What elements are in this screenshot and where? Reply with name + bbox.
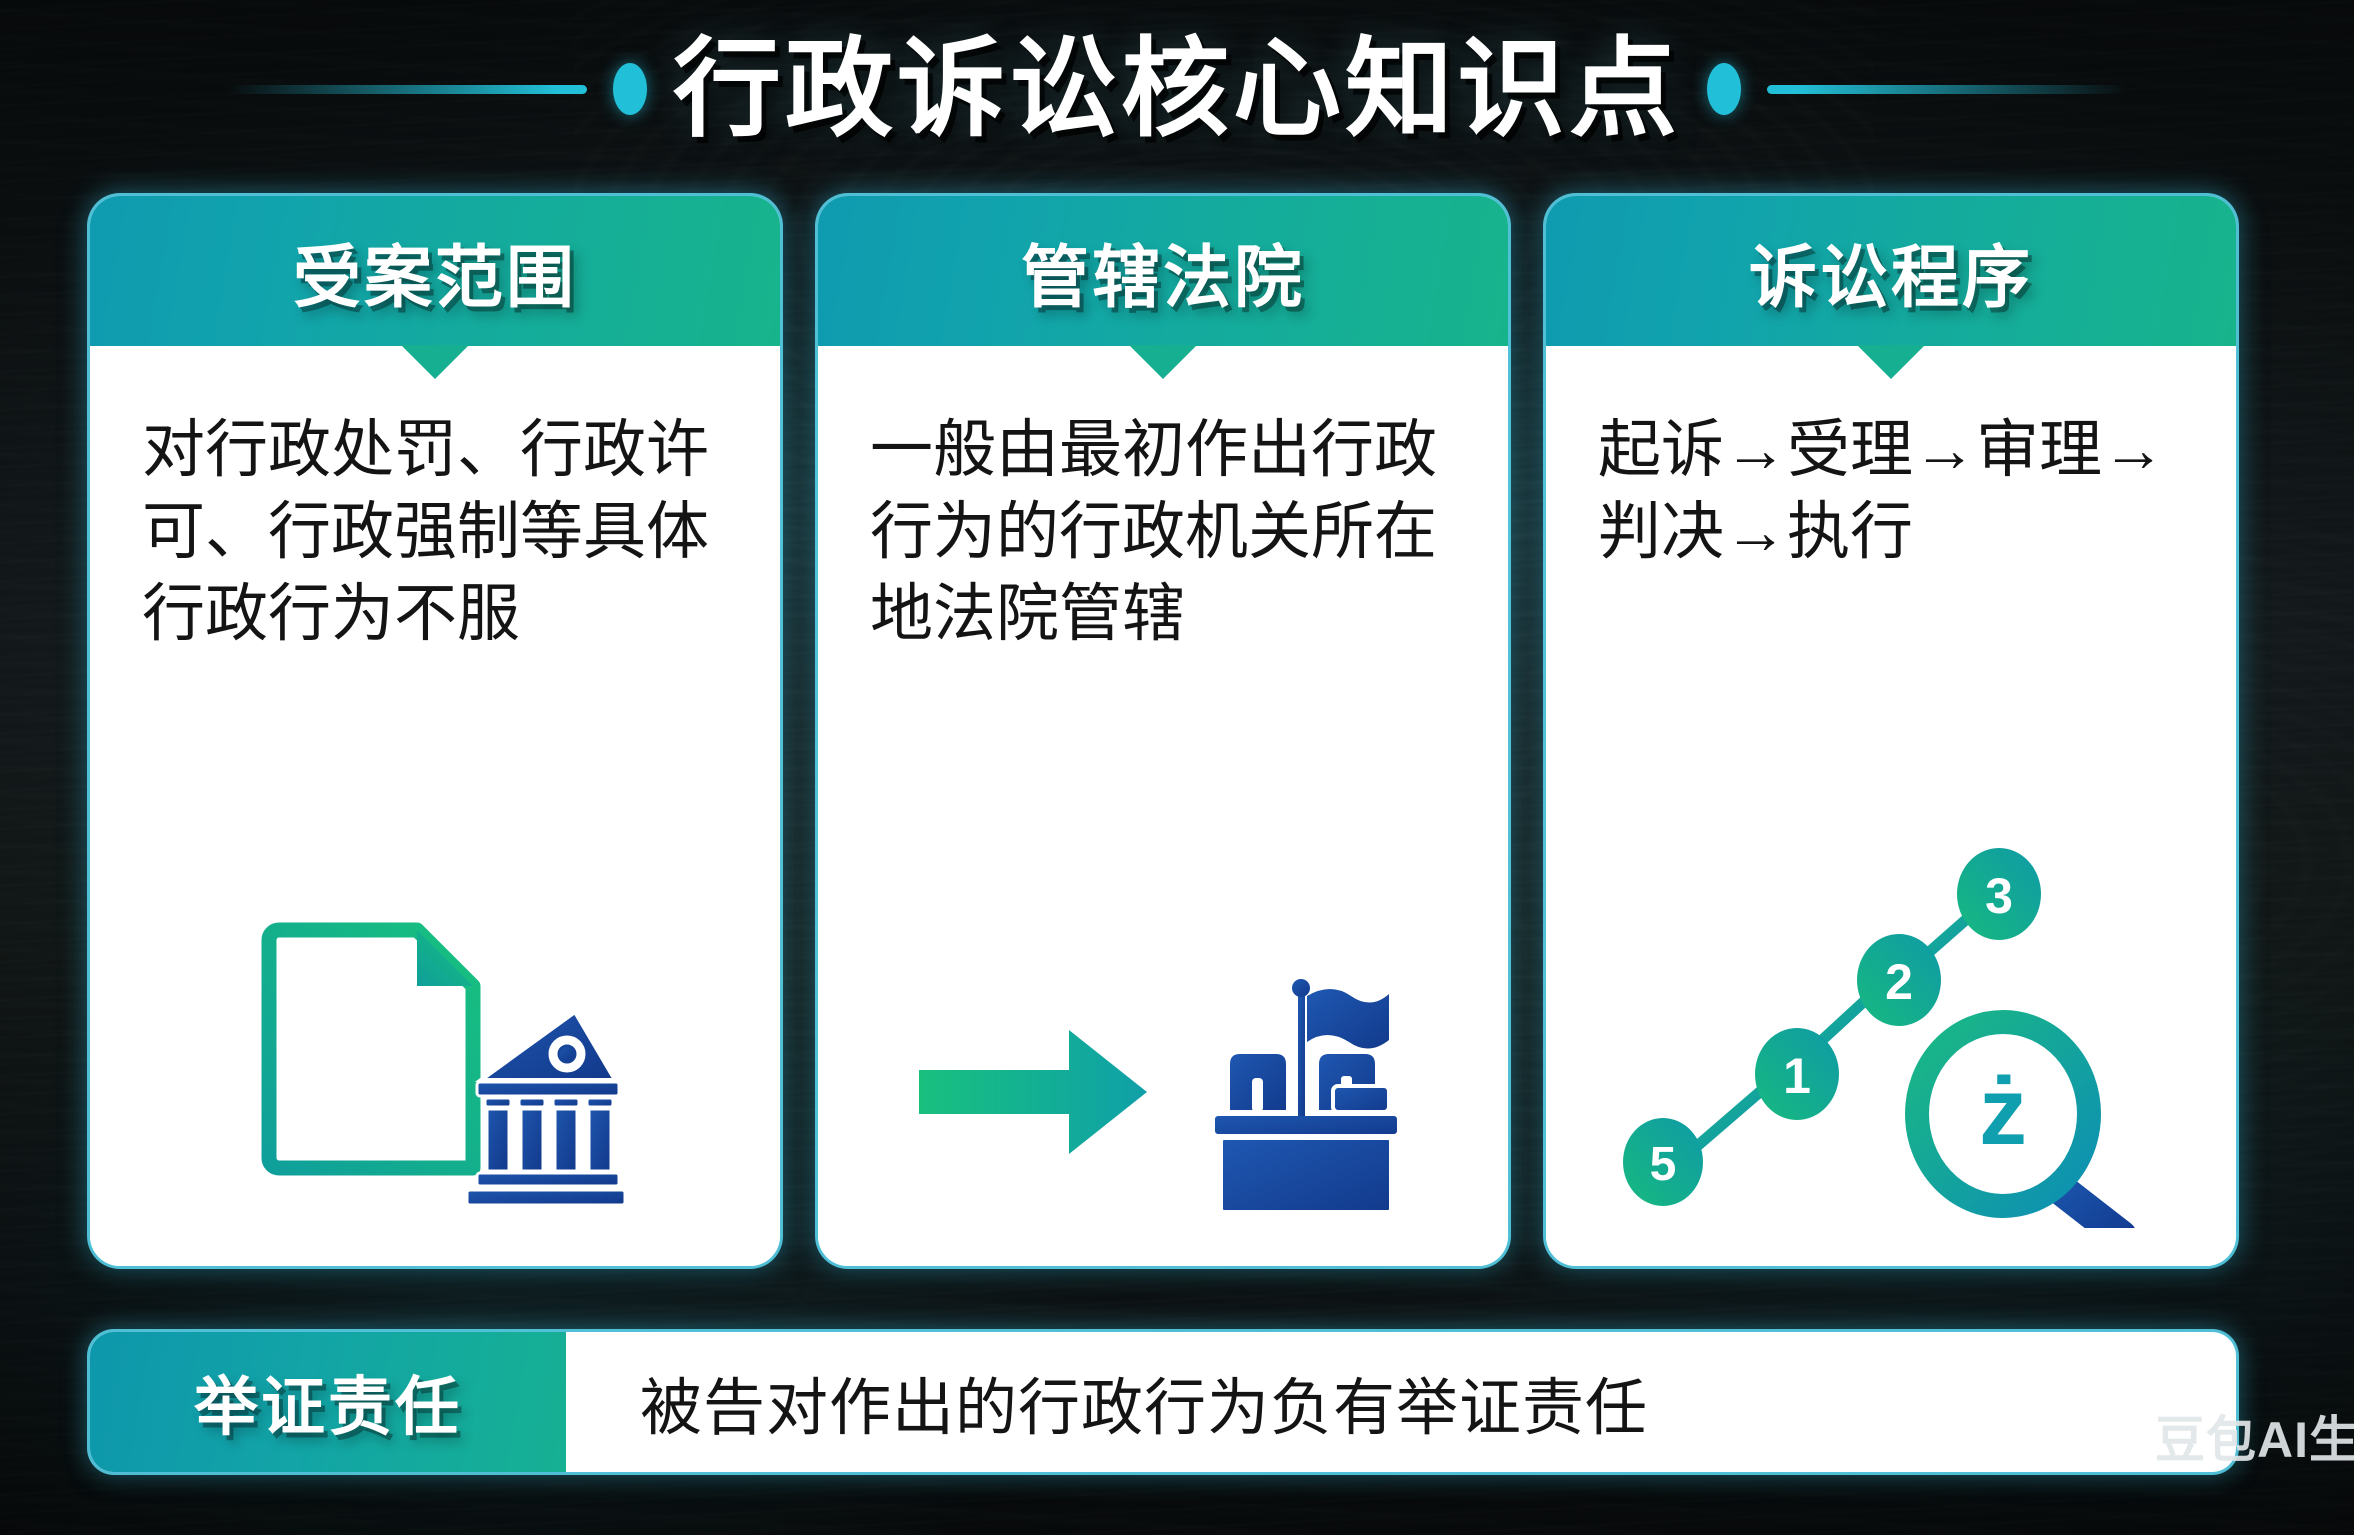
card-title: 管辖法院	[1021, 222, 1305, 321]
courthouse-shape	[467, 1012, 625, 1205]
banner-label-text: 举证责任	[194, 1356, 462, 1448]
card-body: 起诉→受理→审理→判决→执行	[1546, 346, 2236, 1266]
banner-label: 举证责任	[90, 1332, 566, 1472]
card-text: 对行政处罚、行政许可、行政强制等具体行政行为不服	[142, 410, 728, 656]
card-header: 诉讼程序	[1546, 196, 2236, 346]
judge-bench	[1213, 1052, 1399, 1212]
step-node-1: 1	[1755, 1028, 1839, 1120]
card-scope-of-acceptance[interactable]: 受案范围 对行政处罚、行政许可、行政强制等具体行政行为不服	[90, 196, 780, 1266]
banner-body-text: 被告对作出的行政行为负有举证责任	[566, 1332, 2236, 1472]
card-text: 一般由最初作出行政行为的行政机关所在地法院管辖	[870, 410, 1456, 656]
card-icon-area: 5 1 2 3	[1598, 574, 2184, 1242]
card-title: 受案范围	[293, 222, 577, 321]
card-litigation-procedure[interactable]: 诉讼程序 起诉→受理→审理→判决→执行	[1546, 196, 2236, 1266]
card-body: 对行政处罚、行政许可、行政强制等具体行政行为不服	[90, 346, 780, 1266]
page-title: 行政诉讼核心知识点	[673, 32, 1681, 145]
magnifier-icon: ż	[1917, 1022, 2121, 1228]
step-node-5: 5	[1623, 1118, 1703, 1206]
card-title: 诉讼程序	[1749, 222, 2033, 321]
card-icon-area	[870, 656, 1456, 1242]
right-arrow	[919, 1030, 1147, 1154]
title-decor-dot-right	[1707, 63, 1741, 115]
header-notch-triangle	[401, 345, 469, 379]
card-icon-area	[142, 656, 728, 1242]
title-decor-line-left	[227, 85, 587, 94]
card-header: 受案范围	[90, 196, 780, 346]
title-decor-dot-left	[613, 63, 647, 115]
arrow-judge-bench-icon	[913, 958, 1413, 1228]
burden-of-proof-banner[interactable]: 举证责任 被告对作出的行政行为负有举证责任	[90, 1332, 2236, 1472]
step-node-3: 3	[1957, 848, 2041, 940]
header-notch-triangle	[1857, 345, 1925, 379]
step-node-2-label: 2	[1885, 954, 1913, 1010]
step-node-3-label: 3	[1985, 868, 2013, 924]
step-node-2: 2	[1857, 934, 1941, 1026]
document-text-lines	[311, 978, 451, 1170]
card-jurisdiction-court[interactable]: 管辖法院 一般由最初作出行政行为的行政机关所在地法院管辖	[818, 196, 1508, 1266]
magnifier-glyph: ż	[1979, 1058, 2027, 1165]
card-row: 受案范围 对行政处罚、行政许可、行政强制等具体行政行为不服	[90, 196, 2236, 1266]
title-row: 行政诉讼核心知识点	[0, 14, 2354, 164]
watermark: 豆包AI生	[2155, 1400, 2354, 1472]
step-node-5-label: 5	[1650, 1138, 1677, 1191]
card-text: 起诉→受理→审理→判决→执行	[1598, 410, 2184, 574]
header-notch-triangle	[1129, 345, 1197, 379]
step-nodes-magnifier-icon: 5 1 2 3	[1611, 828, 2171, 1228]
title-decor-line-right	[1767, 85, 2127, 94]
step-node-1-label: 1	[1783, 1048, 1811, 1104]
card-header: 管辖法院	[818, 196, 1508, 346]
card-body: 一般由最初作出行政行为的行政机关所在地法院管辖	[818, 346, 1508, 1266]
document-courthouse-icon	[245, 908, 625, 1228]
